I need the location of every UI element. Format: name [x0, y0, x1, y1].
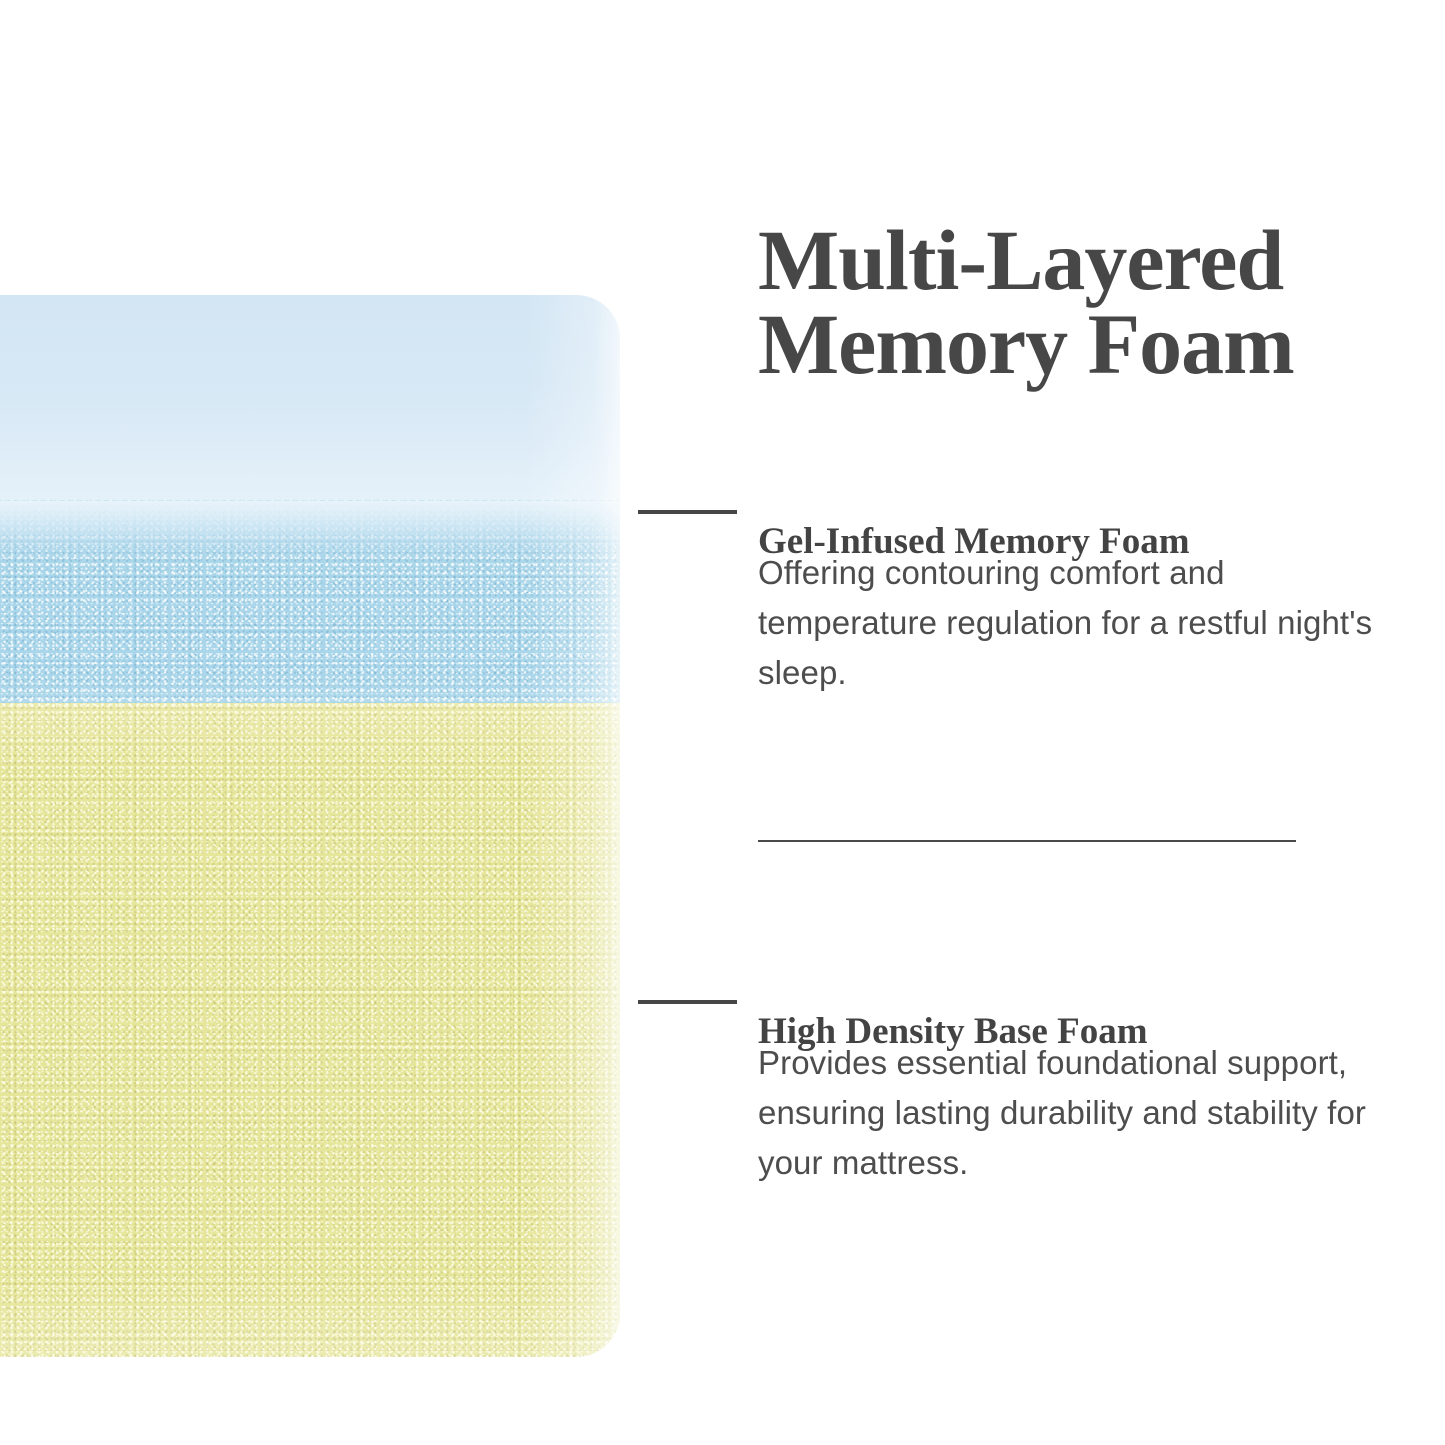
heading-row: High Density Base Foam [758, 978, 1408, 1024]
section-heading-base: High Density Base Foam [758, 1009, 1148, 1055]
content-column: Multi-LayeredMemory Foam Gel-Infused Mem… [758, 0, 1378, 1445]
section-high-density-base-foam: High Density Base Foam Provides essentia… [758, 978, 1408, 1221]
foam-block-image [0, 295, 620, 1357]
section-heading-gel: Gel-Infused Memory Foam [758, 519, 1190, 565]
section-divider [758, 840, 1296, 842]
dash-marker-icon [638, 510, 737, 514]
heading-row: Gel-Infused Memory Foam [758, 488, 1408, 534]
page-title: Multi-LayeredMemory Foam [758, 218, 1398, 387]
section-body-gel: Offering contouring comfort and temperat… [758, 548, 1406, 698]
infographic-page: Multi-LayeredMemory Foam Gel-Infused Mem… [0, 0, 1445, 1445]
foam-top-surface-fade [0, 501, 620, 561]
foam-top-surface [0, 295, 620, 525]
section-body-base: Provides essential foundational support,… [758, 1038, 1406, 1188]
dash-marker-icon [638, 1000, 737, 1004]
foam-layer-high-density-base [0, 703, 620, 1357]
section-gel-infused-memory-foam: Gel-Infused Memory Foam Offering contour… [758, 488, 1408, 731]
